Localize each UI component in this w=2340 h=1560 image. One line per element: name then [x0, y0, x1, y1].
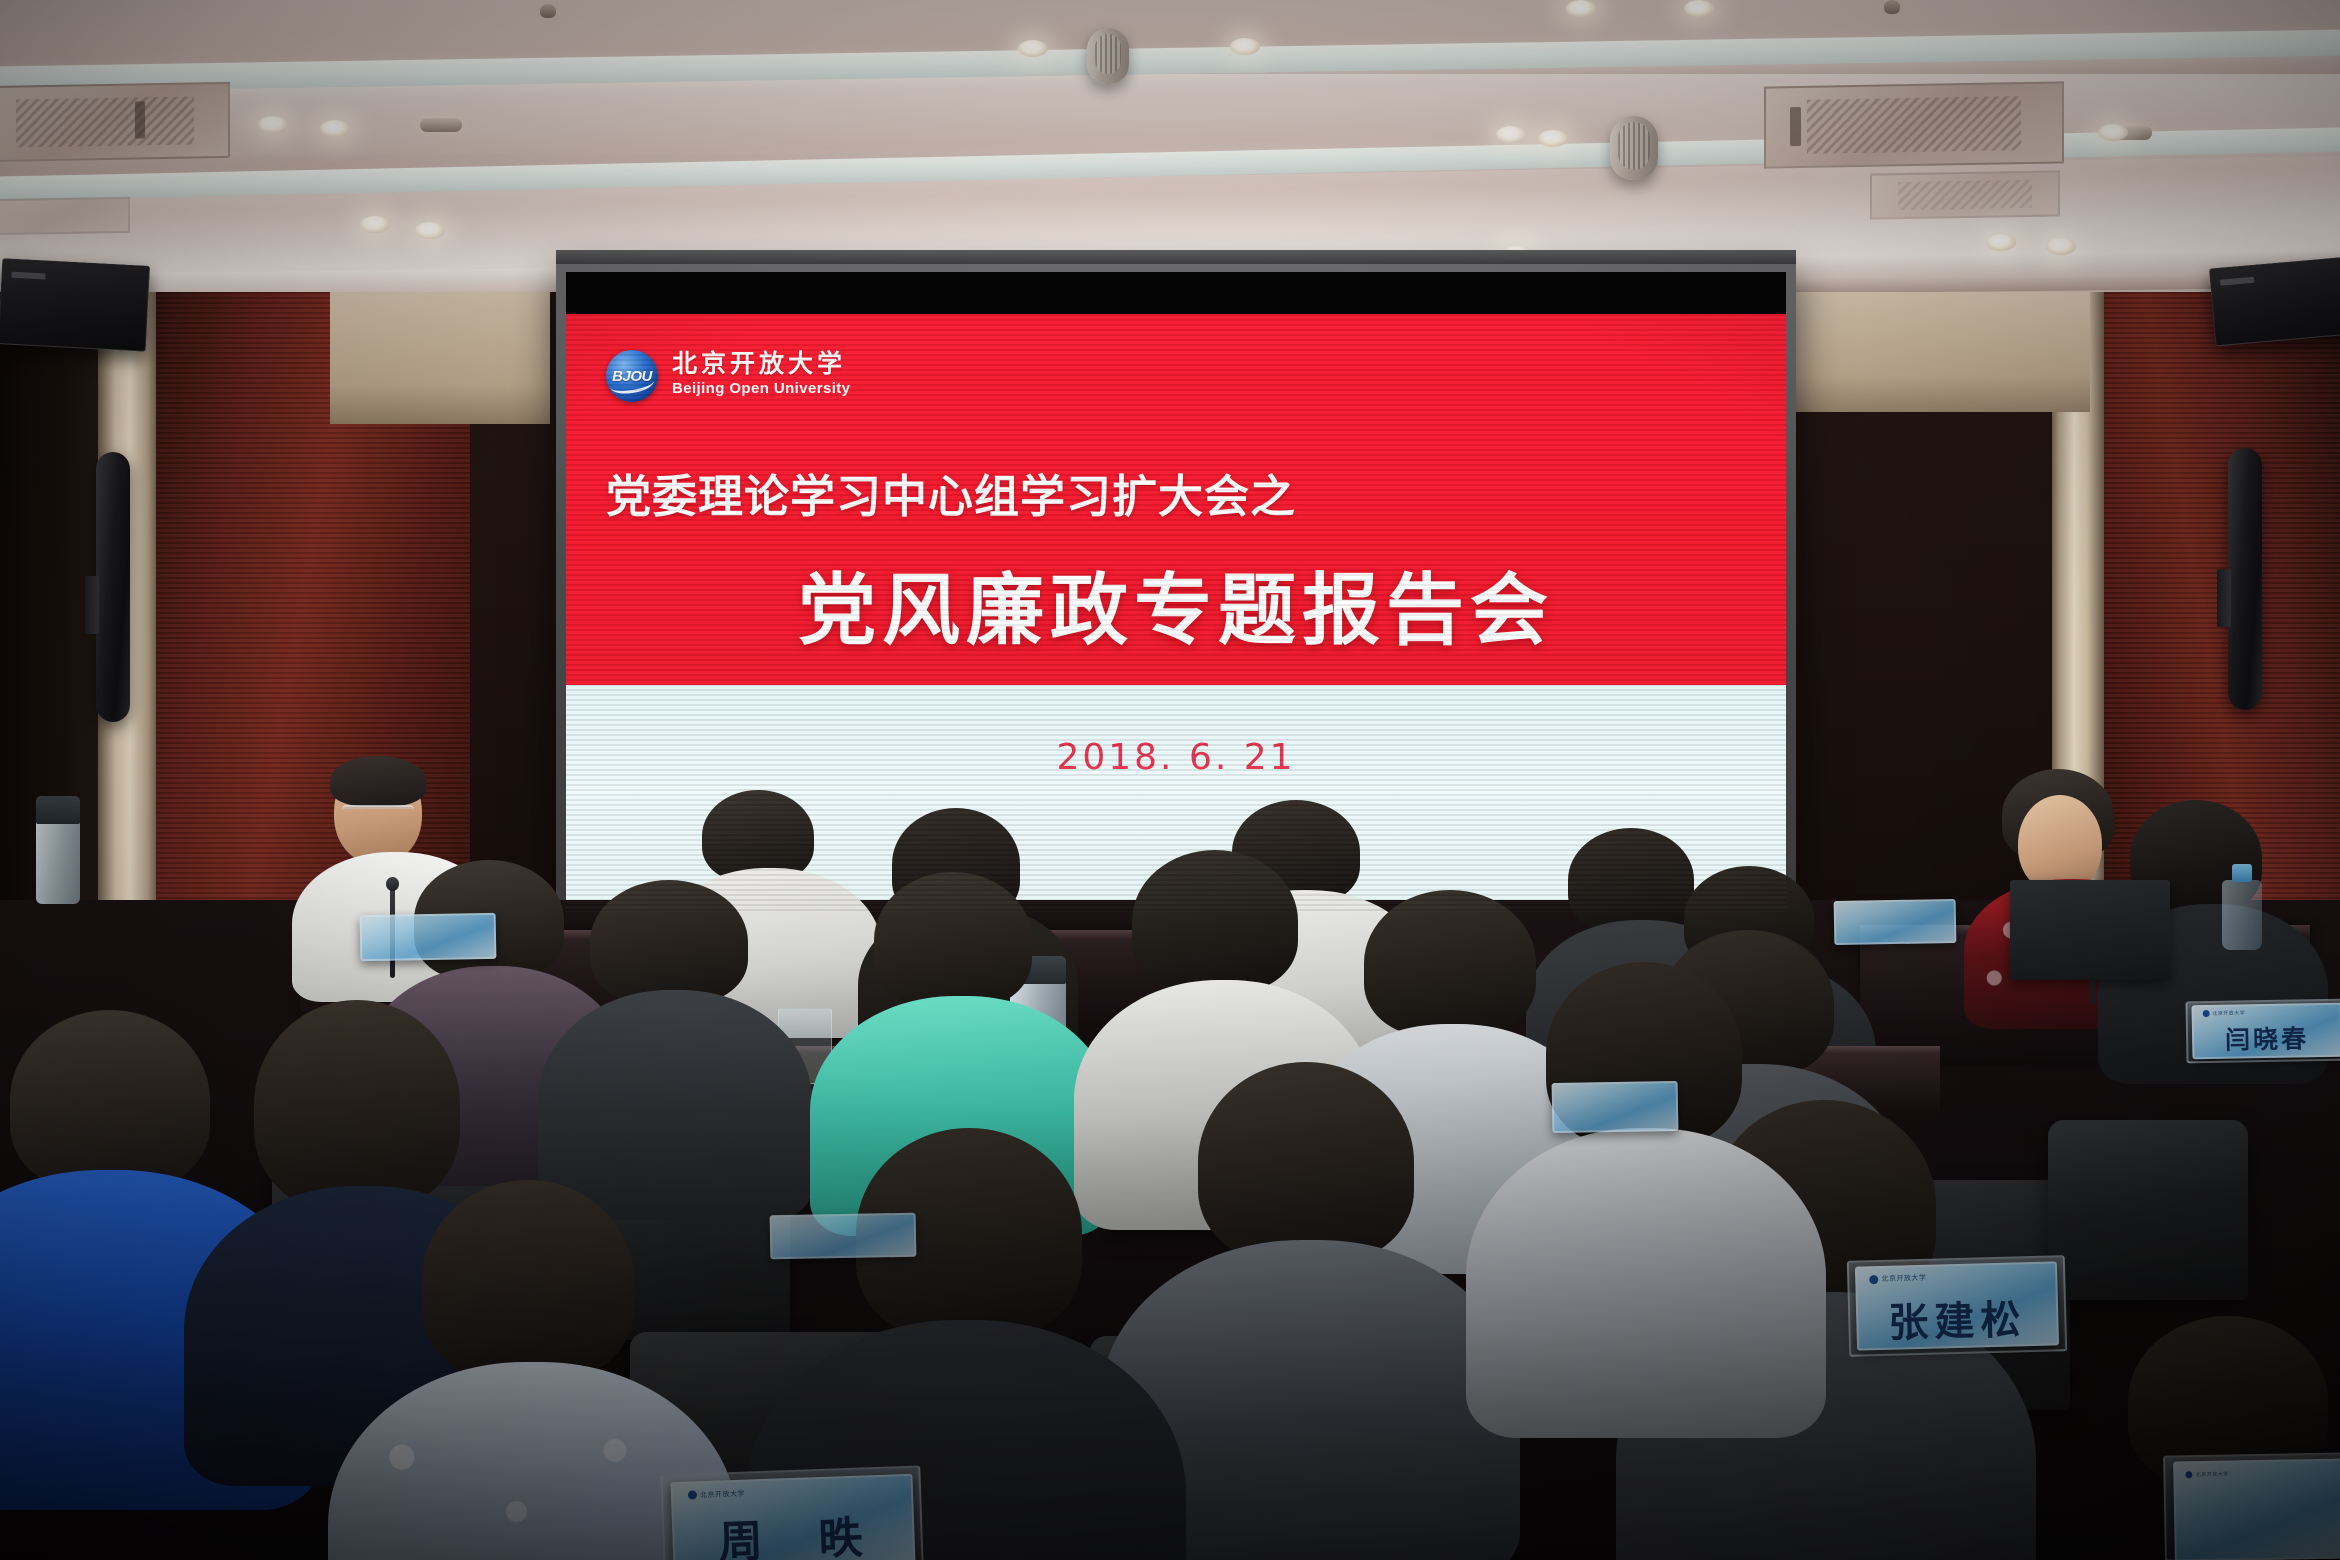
- flask-lid: [36, 796, 80, 824]
- placard-logo: 北京开放大学: [1869, 1273, 1926, 1284]
- attendee-hair: [10, 1010, 210, 1190]
- downlight: [360, 216, 390, 233]
- placard-name: [1552, 1096, 1678, 1098]
- downlight: [2098, 124, 2128, 141]
- downlight: [1986, 234, 2016, 251]
- placard-name: 张建松: [1856, 1287, 2059, 1350]
- downlight: [415, 222, 445, 239]
- hvac-grille: [1898, 180, 2032, 211]
- placard-org-mark: 北京开放大学: [1881, 1273, 1926, 1284]
- attendee-hair: [874, 872, 1032, 1008]
- soffit-left: [330, 292, 550, 424]
- downlight: [1230, 38, 1260, 55]
- attendee-mid-2: [560, 880, 790, 1140]
- name-placard: [1552, 1081, 1679, 1133]
- name-placard: 北京开放大学: [2173, 1458, 2340, 1560]
- attendee-front-gray: [1140, 1062, 1480, 1492]
- emergency-light: [420, 118, 462, 132]
- speaker-hair: [330, 756, 426, 806]
- name-placard: 北京开放大学 闫晓春: [2192, 1003, 2340, 1060]
- speaker-glasses: [342, 805, 414, 821]
- placard-org-mark: 北京开放大学: [700, 1488, 745, 1500]
- downlight: [1684, 0, 1714, 17]
- placard-name: [1834, 912, 1956, 914]
- placard-name: [360, 927, 496, 929]
- hvac-vent: [1764, 81, 2064, 168]
- name-placard: [360, 913, 497, 961]
- ceiling-speaker: [1610, 116, 1658, 180]
- attendee-mid-teal: [836, 872, 1086, 1172]
- name-placard: [1834, 899, 1957, 945]
- wall-monitor-right: [2209, 256, 2340, 347]
- placard-logo-dot-icon: [1869, 1275, 1878, 1284]
- hvac-grille: [16, 96, 193, 148]
- hvac-slot: [135, 101, 145, 139]
- column-speaker-right: [2228, 448, 2262, 710]
- downlight: [320, 120, 350, 137]
- name-placard: 北京开放大学 周 昳: [671, 1474, 916, 1560]
- downlight: [1566, 0, 1596, 17]
- chair-back: [2048, 1120, 2248, 1300]
- wall-monitor-left: [0, 258, 150, 352]
- water-bottle: [2222, 880, 2262, 950]
- placard-logo-dot-icon: [2186, 1471, 2193, 1478]
- downlight: [258, 116, 288, 133]
- downlight: [2046, 238, 2076, 255]
- placard-name: [2174, 1488, 2340, 1491]
- monitor-brand-mark: [11, 271, 45, 279]
- attendee-right-column: [1496, 962, 1796, 1362]
- university-logo: BJOU 北京开放大学 Beijing Open University: [606, 350, 850, 402]
- hvac-vent: [1870, 170, 2060, 219]
- attendee-front-patterned: [362, 1180, 702, 1560]
- hvac-slot: [1790, 107, 1801, 146]
- attendee-hair: [1198, 1062, 1414, 1262]
- hvac-vent-recessed: [0, 197, 130, 235]
- placard-org-mark: 北京开放大学: [2212, 1010, 2245, 1018]
- bottle-cap: [2232, 864, 2251, 882]
- logo-name-en: Beijing Open University: [672, 378, 850, 401]
- bjou-badge-icon: BJOU: [606, 350, 658, 402]
- attendee-hair: [590, 880, 748, 1004]
- name-placard: 北京开放大学 张建松: [1855, 1261, 2059, 1350]
- attendee-torso: [1466, 1128, 1826, 1438]
- sprinkler-head: [1884, 0, 1900, 14]
- logo-name-cn: 北京开放大学: [672, 351, 850, 376]
- placard-logo-dot-icon: [2202, 1010, 2209, 1017]
- screen-letterbox: [566, 272, 1786, 314]
- attendee-hair: [1132, 850, 1298, 992]
- hvac-grille: [1807, 97, 2020, 154]
- vacuum-flask: [36, 796, 80, 904]
- slide-subtitle: 党委理论学习中心组学习扩大会之: [606, 460, 1296, 525]
- downlight: [1496, 126, 1526, 143]
- placard-name: 周 昳: [671, 1500, 915, 1560]
- hvac-vent: [0, 82, 230, 162]
- badge-text: BJOU: [612, 368, 652, 385]
- slide-date: 2018. 6. 21: [566, 737, 1786, 778]
- placard-logo-dot-icon: [688, 1491, 697, 1500]
- placard-org-mark: 北京开放大学: [2196, 1471, 2229, 1479]
- placard-logo: 北京开放大学: [2202, 1010, 2245, 1018]
- placard-logo: 北京开放大学: [2186, 1471, 2229, 1479]
- placard-name: [770, 1226, 916, 1229]
- downlight: [1538, 130, 1568, 147]
- conference-hall-photo: BJOU 北京开放大学 Beijing Open University 党委理论…: [0, 0, 2340, 1560]
- soffit-right: [1790, 292, 2090, 412]
- placard-name: 闫晓春: [2192, 1019, 2340, 1058]
- slide-title: 党风廉政专题报告会: [566, 548, 1786, 660]
- logo-text-block: 北京开放大学 Beijing Open University: [672, 351, 850, 401]
- downlight: [1018, 40, 1048, 57]
- attendee-hair: [254, 1000, 460, 1210]
- monitor-brand-mark: [2220, 276, 2254, 285]
- ceiling-speaker: [1087, 28, 1129, 84]
- sprinkler-head: [540, 4, 556, 18]
- laptop-right-table: [2010, 880, 2170, 980]
- attendee-hair: [422, 1180, 634, 1380]
- column-speaker-left: [96, 452, 130, 722]
- name-placard: [770, 1213, 917, 1260]
- placard-logo: 北京开放大学: [688, 1488, 745, 1500]
